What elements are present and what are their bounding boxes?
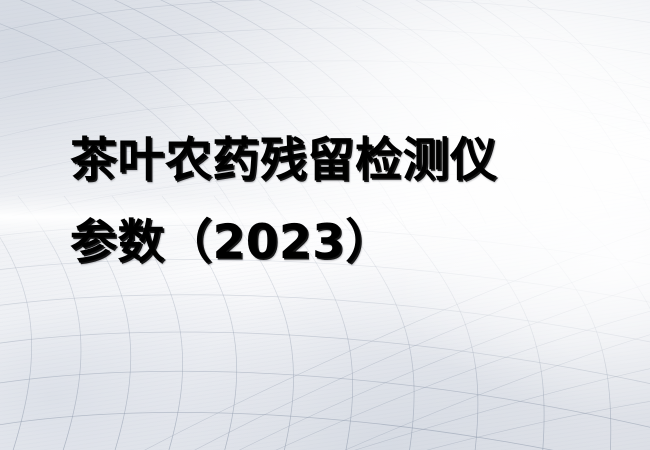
title-slide: 茶叶农药残留检测仪 参数（2023） [0,0,650,450]
title-line-primary: 茶叶农药残留检测仪 [70,120,590,202]
page-title: 茶叶农药残留检测仪 参数（2023） [70,120,590,284]
title-line-secondary: 参数（2023） [70,202,590,284]
